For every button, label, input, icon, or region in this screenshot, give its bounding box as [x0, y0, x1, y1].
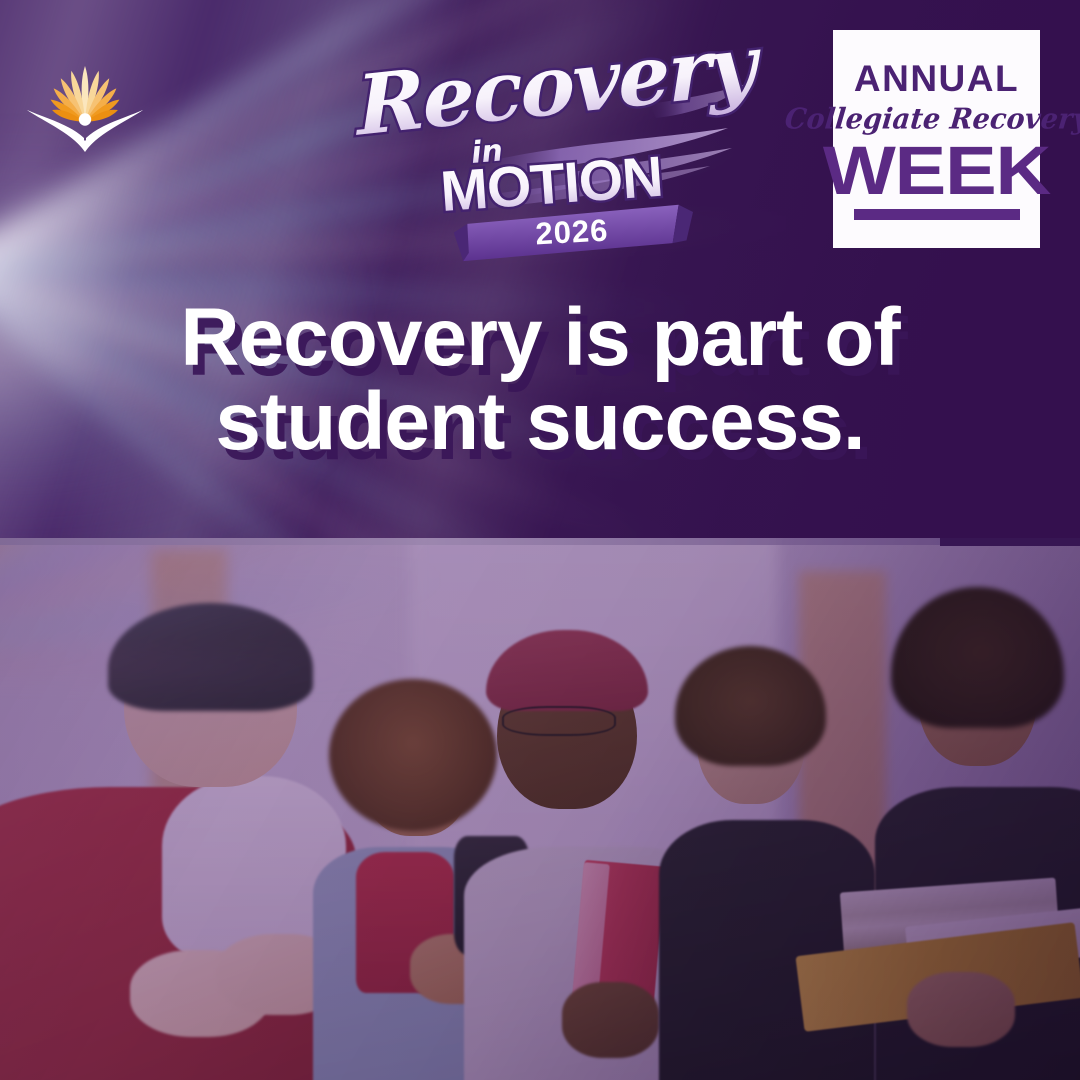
- page-title: Recovery is part of student success.: [0, 296, 1080, 465]
- poster-canvas: Recovery in MOTION 2026 ANNUAL Collegiat…: [0, 0, 1080, 1080]
- photo-top-edge: [0, 538, 1080, 545]
- badge-collegiate-recovery-label: Collegiate Recovery: [783, 105, 1080, 134]
- svg-text:2026: 2026: [535, 213, 610, 252]
- recovery-in-motion-logo: Recovery in MOTION 2026: [350, 48, 750, 253]
- photo-purple-tint-overlay: [0, 538, 1080, 1080]
- photo-top-right-strip: [940, 538, 1080, 546]
- open-book-logo: [24, 46, 146, 156]
- headline-line-2: student success.: [0, 380, 1080, 464]
- header-banner: Recovery in MOTION 2026 ANNUAL Collegiat…: [0, 0, 1080, 538]
- badge-week-label: WEEK: [823, 139, 1050, 202]
- students-hallway-photo: [0, 538, 1080, 1080]
- annual-collegiate-recovery-week-badge: ANNUAL Collegiate Recovery WEEK: [833, 30, 1040, 248]
- headline-line-1: Recovery is part of: [180, 292, 899, 383]
- badge-annual-label: ANNUAL: [854, 60, 1019, 97]
- badge-underline-rule: [854, 209, 1020, 220]
